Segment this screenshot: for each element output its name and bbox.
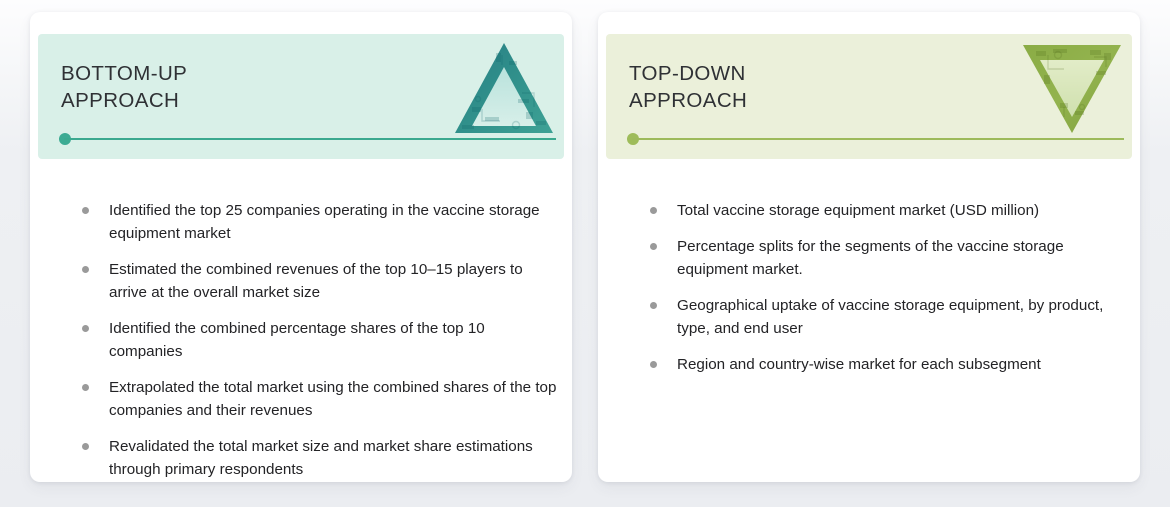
list-item-text: Percentage splits for the segments of th… [677,238,1064,278]
list-item-text: Revalidated the total market size and ma… [109,438,533,478]
timeline-rule-bottom-up [64,138,556,140]
card-header-top-down: TOP-DOWN APPROACH [606,34,1132,159]
bullet-dot-icon [82,207,89,214]
list-item: Geographical uptake of vaccine storage e… [648,294,1126,340]
list-item: Percentage splits for the segments of th… [648,235,1126,281]
triangle-up-icon [452,37,556,141]
bullet-dot-icon [650,207,657,214]
bullet-list-top-down: Total vaccine storage equipment market (… [598,199,1140,389]
bullet-dot-icon [82,325,89,332]
list-item: Total vaccine storage equipment market (… [648,199,1126,222]
list-item-text: Identified the combined percentage share… [109,320,485,360]
bullet-dot-icon [82,266,89,273]
infographic-page: BOTTOM-UP APPROACH [0,0,1170,507]
list-item: Region and country-wise market for each … [648,353,1126,376]
list-item-text: Geographical uptake of vaccine storage e… [677,297,1103,337]
list-item: Extrapolated the total market using the … [80,376,558,422]
list-item-text: Total vaccine storage equipment market (… [677,202,1039,219]
list-item: Estimated the combined revenues of the t… [80,258,558,304]
timeline-rule-top-down [632,138,1124,140]
list-item: Identified the top 25 companies operatin… [80,199,558,245]
card-top-down-approach: TOP-DOWN APPROACH [598,12,1140,482]
list-item-text: Estimated the combined revenues of the t… [109,261,523,301]
card-bottom-up-approach: BOTTOM-UP APPROACH [30,12,572,482]
bullet-dot-icon [650,361,657,368]
page-title-top-down: TOP-DOWN APPROACH [629,60,747,114]
list-item-text: Extrapolated the total market using the … [109,379,556,419]
card-header-bottom-up: BOTTOM-UP APPROACH [38,34,564,159]
bullet-dot-icon [650,302,657,309]
page-title-bottom-up: BOTTOM-UP APPROACH [61,60,187,114]
list-item: Identified the combined percentage share… [80,317,558,363]
bullet-dot-icon [82,443,89,450]
triangle-down-icon [1020,37,1124,141]
list-item-text: Region and country-wise market for each … [677,356,1041,373]
list-item: Revalidated the total market size and ma… [80,435,558,481]
bullet-dot-icon [82,384,89,391]
bullet-dot-icon [650,243,657,250]
bullet-list-bottom-up: Identified the top 25 companies operatin… [30,199,572,482]
list-item-text: Identified the top 25 companies operatin… [109,202,540,242]
